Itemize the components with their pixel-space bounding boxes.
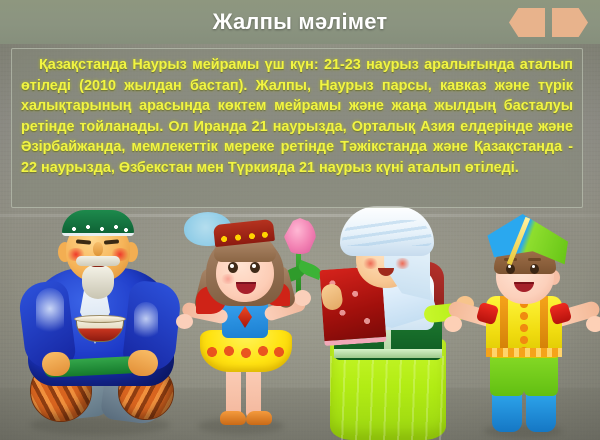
next-arrow-icon[interactable] [552,8,588,37]
boy-vest-trim-left [500,296,508,356]
man-skullcap-pattern [64,223,132,235]
boy-eye-highlight-right [532,265,535,268]
boy-vest-hem [486,348,562,357]
boy-vest-buttons [514,298,534,354]
boy-vest-trim-right [540,296,548,356]
man-hand-right [128,350,158,376]
man-robe-embroidery-left [36,288,64,340]
boy-brow-right [528,258,541,261]
boy-hand-right [586,316,600,332]
girl-shoe-left [220,411,246,425]
boy-boot-left [492,390,522,432]
man-hand-left [42,352,70,376]
woman-vest-trim [334,349,442,358]
info-text-panel: Қазақстанда Наурыз мейрамы үш күн: 21-23… [11,48,583,208]
info-body-text: Қазақстанда Наурыз мейрамы үш күн: 21-23… [21,55,573,178]
figure-little-boy [444,214,600,440]
figure-little-girl [170,212,320,438]
girl-eye-highlight-left [230,264,234,268]
woman-cheek-right [394,258,411,269]
boy-hand-left [444,316,462,332]
man-bowl-rim [74,315,126,323]
woman-skirt-folds [330,356,446,440]
slide-root: Жалпы мәлімет Қазақстанда Наурыз мейрамы… [0,0,600,440]
woman-cheek-left [362,258,379,269]
previous-arrow-icon[interactable] [509,8,545,37]
woman-kimeshek-wrap [342,220,432,246]
boy-boot-right [526,390,556,432]
boy-eye-highlight-left [508,265,511,268]
header-bar: Жалпы мәлімет [0,0,600,44]
man-moustache [76,256,120,266]
man-nose [93,242,103,256]
man-beard [82,265,114,299]
girl-hand-left [176,314,193,329]
girl-shoe-right [246,411,272,425]
man-robe-embroidery-right [134,302,158,344]
navigation-controls [509,8,588,37]
girl-cheek [220,274,236,284]
girl-skirt-flower-pattern [203,343,289,361]
girl-eye-highlight-right [252,264,256,268]
figure-elderly-man [14,210,184,438]
